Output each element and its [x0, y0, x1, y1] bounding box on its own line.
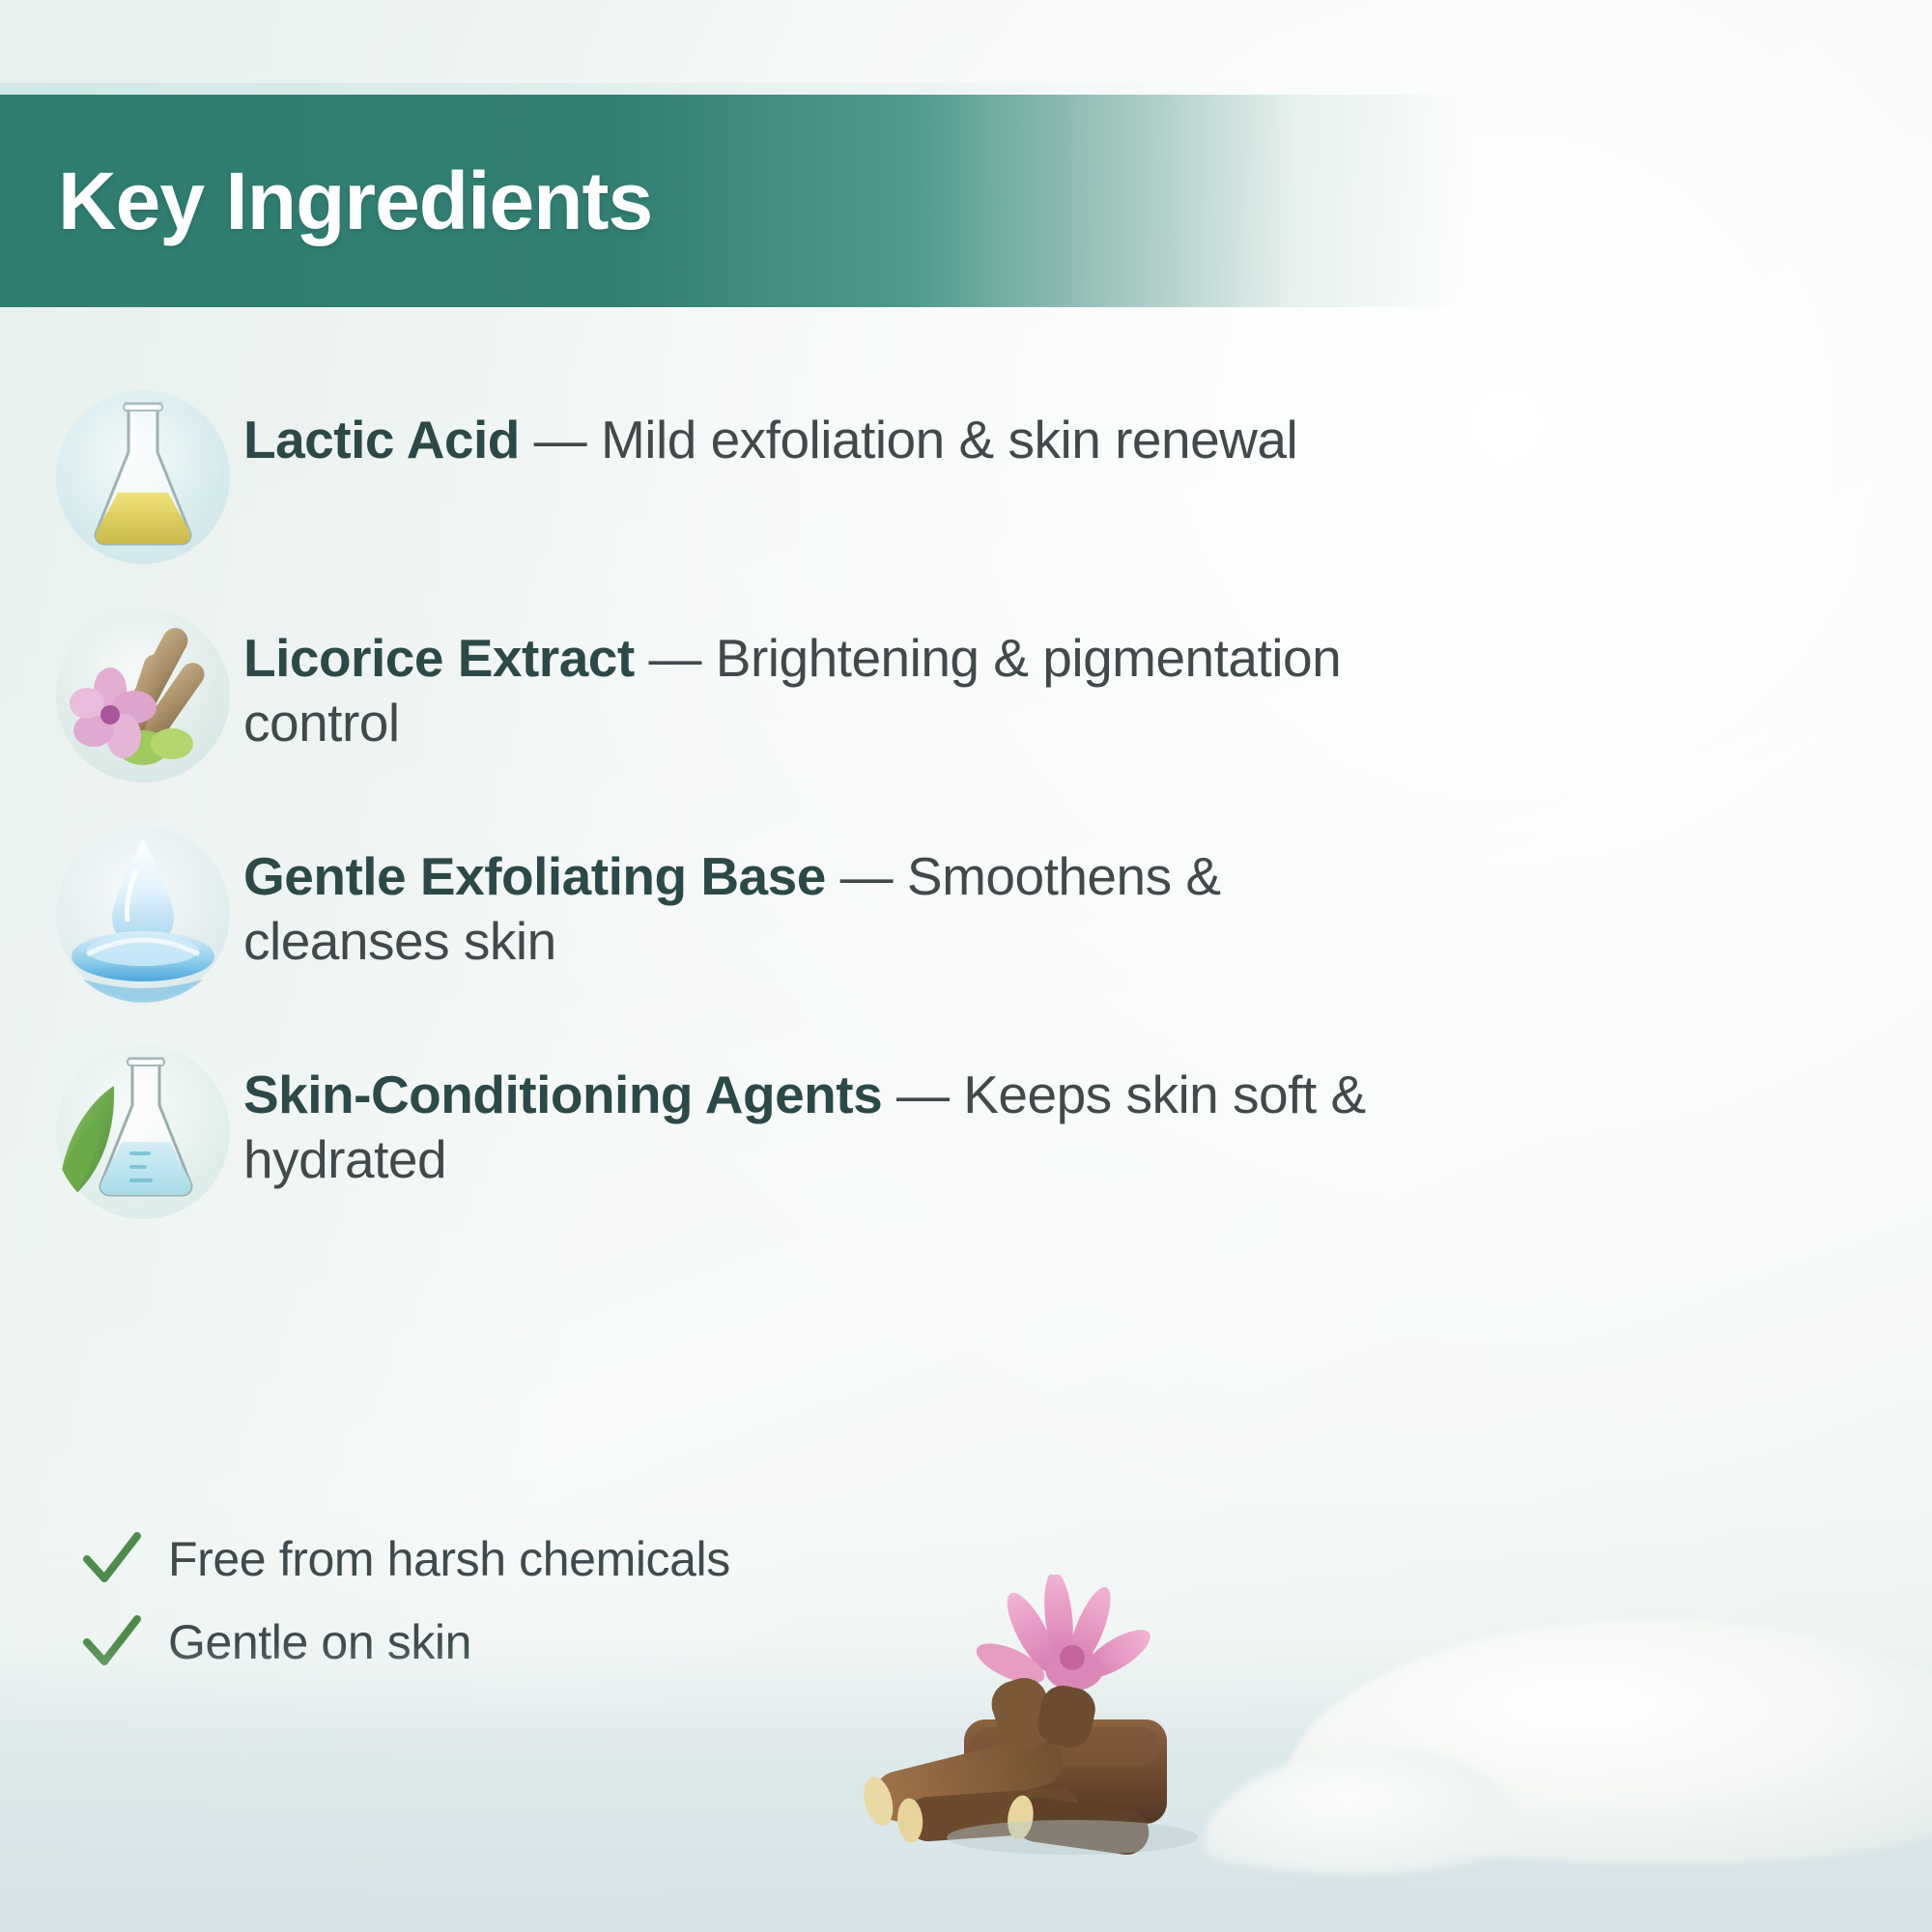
- claims-list: Free from harsh chemicals Gentle on skin: [81, 1528, 730, 1694]
- ingredient-item: Licorice Extract — Brightening & pigment…: [54, 605, 1522, 788]
- water-droplet-icon: [54, 825, 232, 1003]
- ingredient-dash: —: [635, 628, 716, 688]
- ingredient-item: Gentle Exfoliating Base — Smoothens & cl…: [54, 823, 1522, 1007]
- white-powder-pile: [1285, 1621, 1932, 1862]
- ingredient-text: Licorice Extract — Brightening & pigment…: [243, 605, 1432, 755]
- claim-label: Gentle on skin: [168, 1618, 471, 1666]
- ingredient-name: Gentle Exfoliating Base: [243, 846, 826, 906]
- check-icon: [81, 1528, 143, 1590]
- ingredient-dash: —: [826, 846, 907, 906]
- ingredient-item: Skin-Conditioning Agents — Keeps skin so…: [54, 1041, 1522, 1225]
- ingredient-dash: —: [882, 1065, 963, 1124]
- claim-label: Free from harsh chemicals: [168, 1535, 730, 1583]
- key-ingredients-infographic: Key Ingredients: [0, 0, 1932, 1932]
- ingredient-text: Lactic Acid — Mild exfoliation & skin re…: [243, 386, 1297, 472]
- flask-aloe-icon: [54, 1043, 232, 1221]
- ingredient-item: Lactic Acid — Mild exfoliation & skin re…: [54, 386, 1522, 570]
- page-title: Key Ingredients: [58, 160, 652, 241]
- header-banner: Key Ingredients: [0, 95, 1468, 307]
- ingredient-list: Lactic Acid — Mild exfoliation & skin re…: [54, 386, 1522, 1260]
- claim-item: Free from harsh chemicals: [81, 1528, 730, 1590]
- licorice-flower-icon: [54, 607, 232, 784]
- ingredient-description: Mild exfoliation & skin renewal: [601, 410, 1297, 469]
- ingredient-name: Skin-Conditioning Agents: [243, 1065, 882, 1124]
- flask-yellow-icon: [54, 388, 232, 566]
- licorice-root-sticks: [850, 1575, 1294, 1893]
- check-icon: [81, 1611, 143, 1673]
- claim-item: Gentle on skin: [81, 1611, 730, 1673]
- ingredient-name: Licorice Extract: [243, 628, 635, 688]
- white-powder-pile-secondary: [1203, 1748, 1521, 1874]
- ingredient-name: Lactic Acid: [243, 410, 520, 469]
- ingredient-text: Skin-Conditioning Agents — Keeps skin so…: [243, 1041, 1432, 1192]
- ingredient-dash: —: [520, 410, 601, 469]
- ingredient-text: Gentle Exfoliating Base — Smoothens & cl…: [243, 823, 1432, 974]
